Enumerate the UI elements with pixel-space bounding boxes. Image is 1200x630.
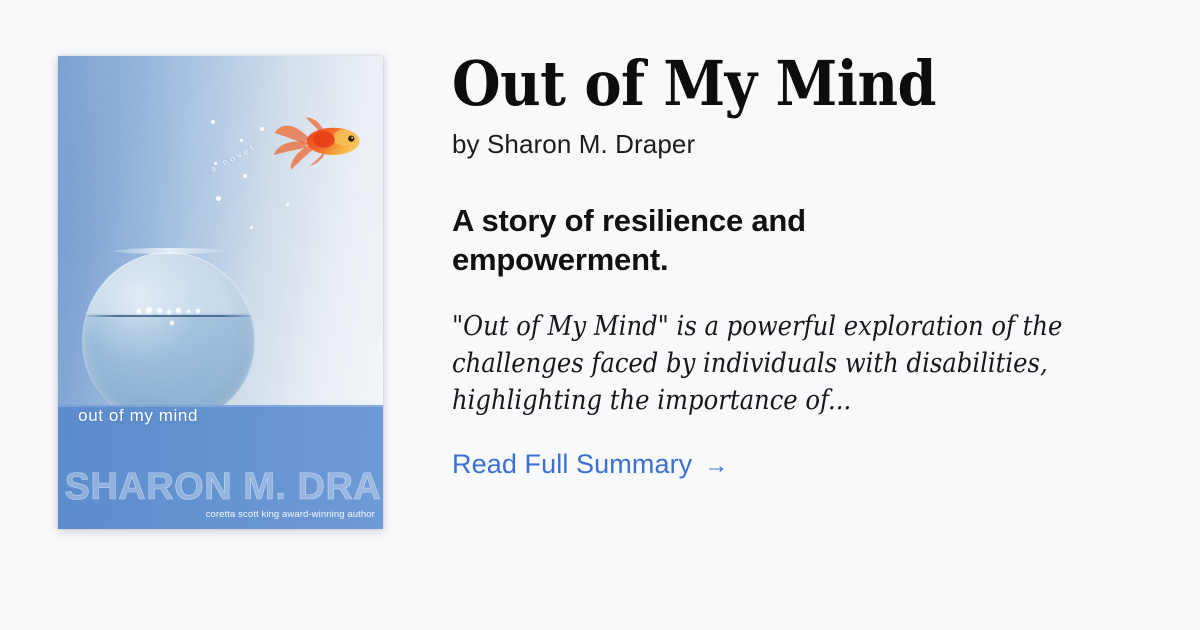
read-full-summary-link[interactable]: Read Full Summary→ [452, 449, 728, 480]
read-full-summary-label: Read Full Summary [452, 449, 692, 479]
page-title: Out of My Mind [452, 52, 1152, 115]
bubble-icon [240, 139, 243, 142]
bubble-icon [250, 226, 253, 229]
book-cover-artwork: a novel out of my mind SHARON M. DRAPER … [58, 56, 383, 529]
book-byline: by Sharon M. Draper [452, 129, 1152, 160]
goldfish-icon [273, 103, 364, 183]
bubble-icon [286, 203, 289, 206]
bubble-icon [243, 174, 247, 178]
book-tagline: A story of resilience and empowerment. [452, 202, 922, 280]
book-description: "Out of My Mind" is a powerful explorati… [452, 308, 1142, 420]
bubble-icon [216, 196, 221, 201]
cover-title-text: out of my mind [78, 406, 198, 426]
fishbowl-icon [82, 252, 254, 425]
book-info-column: Out of My Mind by Sharon M. Draper A sto… [452, 52, 1152, 480]
bubble-icon [211, 120, 215, 124]
arrow-right-icon: → [704, 452, 728, 479]
book-summary-card: a novel out of my mind SHARON M. DRAPER … [0, 0, 1200, 630]
cover-series-label: a novel [208, 142, 257, 174]
fishbowl-rim [113, 248, 224, 254]
bubble-icon [260, 127, 264, 131]
cover-award-text: coretta scott king award-winning author [206, 509, 375, 520]
cover-author-text: SHARON M. DRAPER [65, 470, 377, 505]
book-cover-image[interactable]: a novel out of my mind SHARON M. DRAPER … [58, 56, 383, 529]
fishbowl-surface-bubbles [133, 307, 208, 316]
